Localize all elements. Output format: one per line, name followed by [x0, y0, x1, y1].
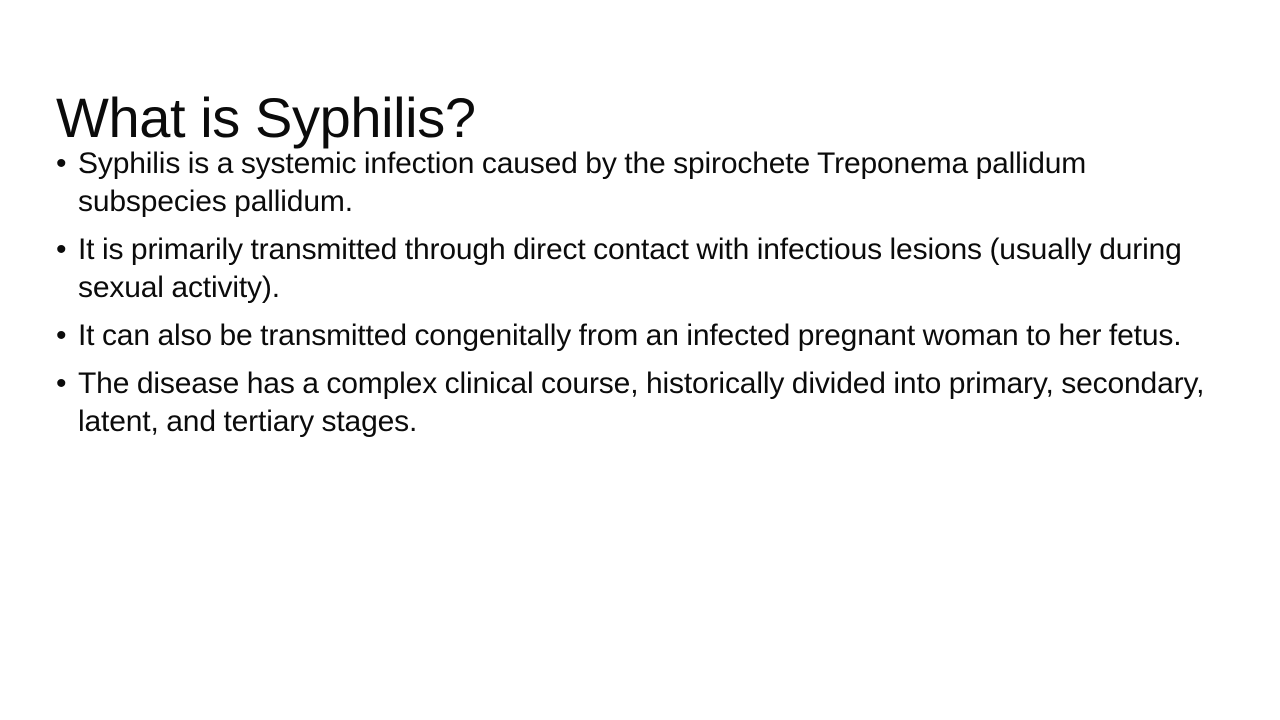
bullet-point-icon: • [56, 145, 78, 183]
list-item-text: It can also be transmitted congenitally … [78, 319, 1181, 352]
bullet-point-icon: • [56, 365, 78, 403]
bullet-list: •Syphilis is a systemic infection caused… [56, 145, 1220, 441]
list-item-text: The disease has a complex clinical cours… [78, 367, 1204, 438]
bullet-point-icon: • [56, 231, 78, 269]
page-title: What is Syphilis? [56, 86, 1226, 150]
list-item: •Syphilis is a systemic infection caused… [56, 145, 1220, 221]
list-item-text: It is primarily transmitted through dire… [78, 233, 1182, 304]
slide-canvas: What is Syphilis? •Syphilis is a systemi… [0, 0, 1280, 720]
list-item: •It is primarily transmitted through dir… [56, 231, 1220, 307]
list-item: •The disease has a complex clinical cour… [56, 365, 1220, 441]
bullet-point-icon: • [56, 317, 78, 355]
list-item: •It can also be transmitted congenitally… [56, 317, 1220, 355]
list-item-text: Syphilis is a systemic infection caused … [78, 147, 1086, 218]
